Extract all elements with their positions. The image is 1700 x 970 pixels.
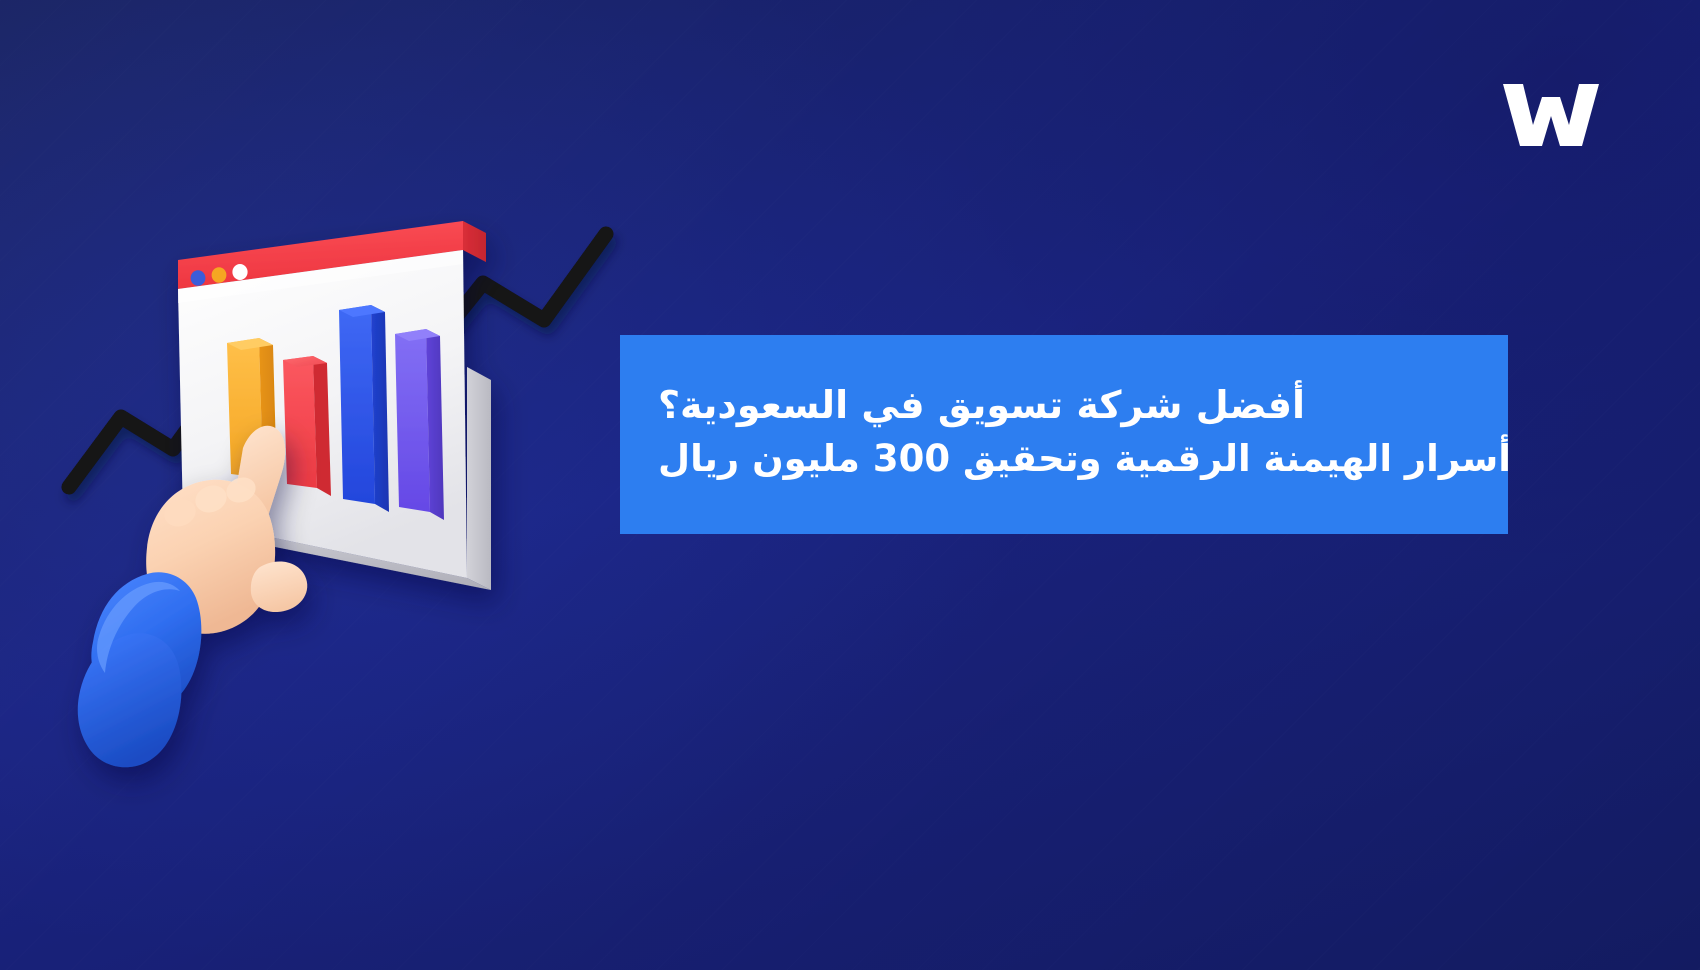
brand-logo[interactable]: [1497, 78, 1605, 152]
bar-2-red: [283, 356, 331, 496]
hero-illustration: [55, 130, 635, 710]
dot-white-icon: [232, 264, 247, 280]
headline-line-1: أفضل شركة تسويق في السعودية؟: [658, 379, 1305, 433]
dot-orange-icon: [212, 267, 227, 283]
w-letter-icon: [1503, 84, 1599, 146]
dot-blue-icon: [191, 270, 206, 286]
headline-line-2: أسرار الهيمنة الرقمية وتحقيق 300 مليون ر…: [658, 433, 1511, 486]
bar-4-purple: [395, 329, 444, 520]
poster-canvas: أفضل شركة تسويق في السعودية؟ أسرار الهيم…: [0, 0, 1700, 970]
headline-panel: أفضل شركة تسويق في السعودية؟ أسرار الهيم…: [620, 335, 1508, 534]
bar-3-blue: [339, 305, 389, 512]
